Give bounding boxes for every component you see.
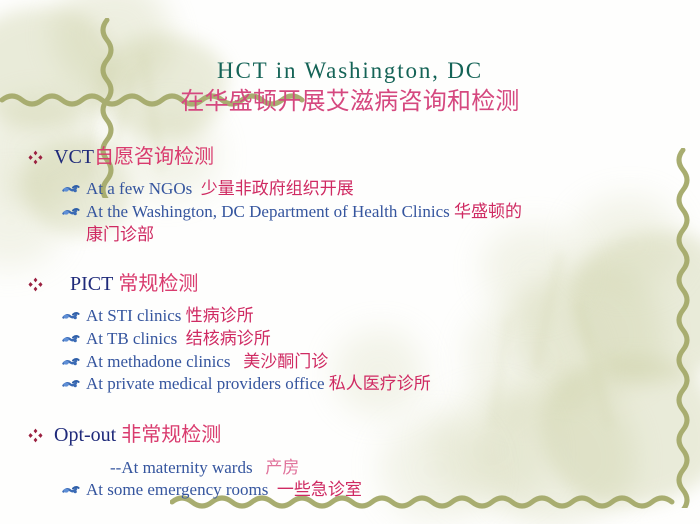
wingding-flourish-bullet-icon [62,331,80,347]
section-heading-chinese: 常规检测 [118,273,198,295]
list-item: At some emergency rooms 一些急诊室 [26,479,700,502]
section-heading-chinese: 自愿咨询检测 [94,146,214,168]
list-item-chinese: 性病诊所 [186,306,254,325]
list-item-english: --At maternity wards [110,458,253,477]
spacer [26,396,700,424]
wingding-flourish-bullet-icon [62,181,80,197]
wingding-flourish-bullet-icon [62,308,80,324]
section-heading-vct: VCT自愿咨询检测 [26,146,700,168]
spacer [26,170,700,178]
wingding-flourish-bullet-icon [62,354,80,370]
list-item-continuation: 康门诊部 [26,224,700,247]
slide-title-chinese: 在华盛顿开展艾滋病咨询和检测 [0,87,700,117]
presentation-slide: HCT in Washington, DC 在华盛顿开展艾滋病咨询和检测 VCT… [0,0,700,524]
diamond-cluster-bullet-icon [28,277,43,292]
spacer [26,449,700,457]
list-item-english: At some emergency rooms [86,480,268,499]
slide-body-outline: VCT自愿咨询检测 At a few NGOs 少量非政府组织开展 [26,146,700,524]
spacer [26,247,700,273]
list-item-chinese: 结核病诊所 [186,329,271,348]
list-item: --At maternity wards 产房 [26,457,700,480]
list-item: At private medical providers office 私人医疗… [26,373,700,396]
list-item-chinese: 一些急诊室 [277,480,362,499]
list-item-chinese: 华盛顿的 [454,202,522,221]
list-item-chinese: 产房 [265,458,299,477]
diamond-cluster-bullet-icon [28,150,43,165]
section-heading-pict: PICT 常规检测 [26,273,700,295]
list-item-chinese: 少量非政府组织开展 [201,179,354,198]
list-item: At STI clinics 性病诊所 [26,305,700,328]
spacer [26,297,700,305]
list-item: At a few NGOs 少量非政府组织开展 [26,178,700,201]
diamond-cluster-bullet-icon [28,428,43,443]
list-item-english: At STI clinics [86,306,181,325]
list-item: At TB clinics 结核病诊所 [26,328,700,351]
wingding-flourish-bullet-icon [62,482,80,498]
list-item: At the Washington, DC Department of Heal… [26,201,700,224]
slide-title-block: HCT in Washington, DC 在华盛顿开展艾滋病咨询和检测 [0,58,700,117]
section-heading-english: VCT [54,146,94,168]
list-item: At methadone clinics 美沙酮门诊 [26,351,700,374]
list-item-chinese: 美沙酮门诊 [243,352,328,371]
section-heading-english: Opt-out [54,424,116,446]
wingding-flourish-bullet-icon [62,376,80,392]
list-item-english: At methadone clinics [86,352,230,371]
section-heading-opt-out: Opt-out 非常规检测 [26,424,700,446]
list-item-english: At the Washington, DC Department of Heal… [86,202,450,221]
list-item-english: At TB clinics [86,329,177,348]
wingding-flourish-bullet-icon [62,204,80,220]
section-heading-english: PICT [70,273,113,295]
list-item-english: At a few NGOs [86,179,192,198]
list-item-chinese: 私人医疗诊所 [329,374,431,393]
section-heading-chinese: 非常规检测 [121,424,221,446]
slide-title-english: HCT in Washington, DC [0,58,700,84]
list-item-english: At private medical providers office [86,374,325,393]
